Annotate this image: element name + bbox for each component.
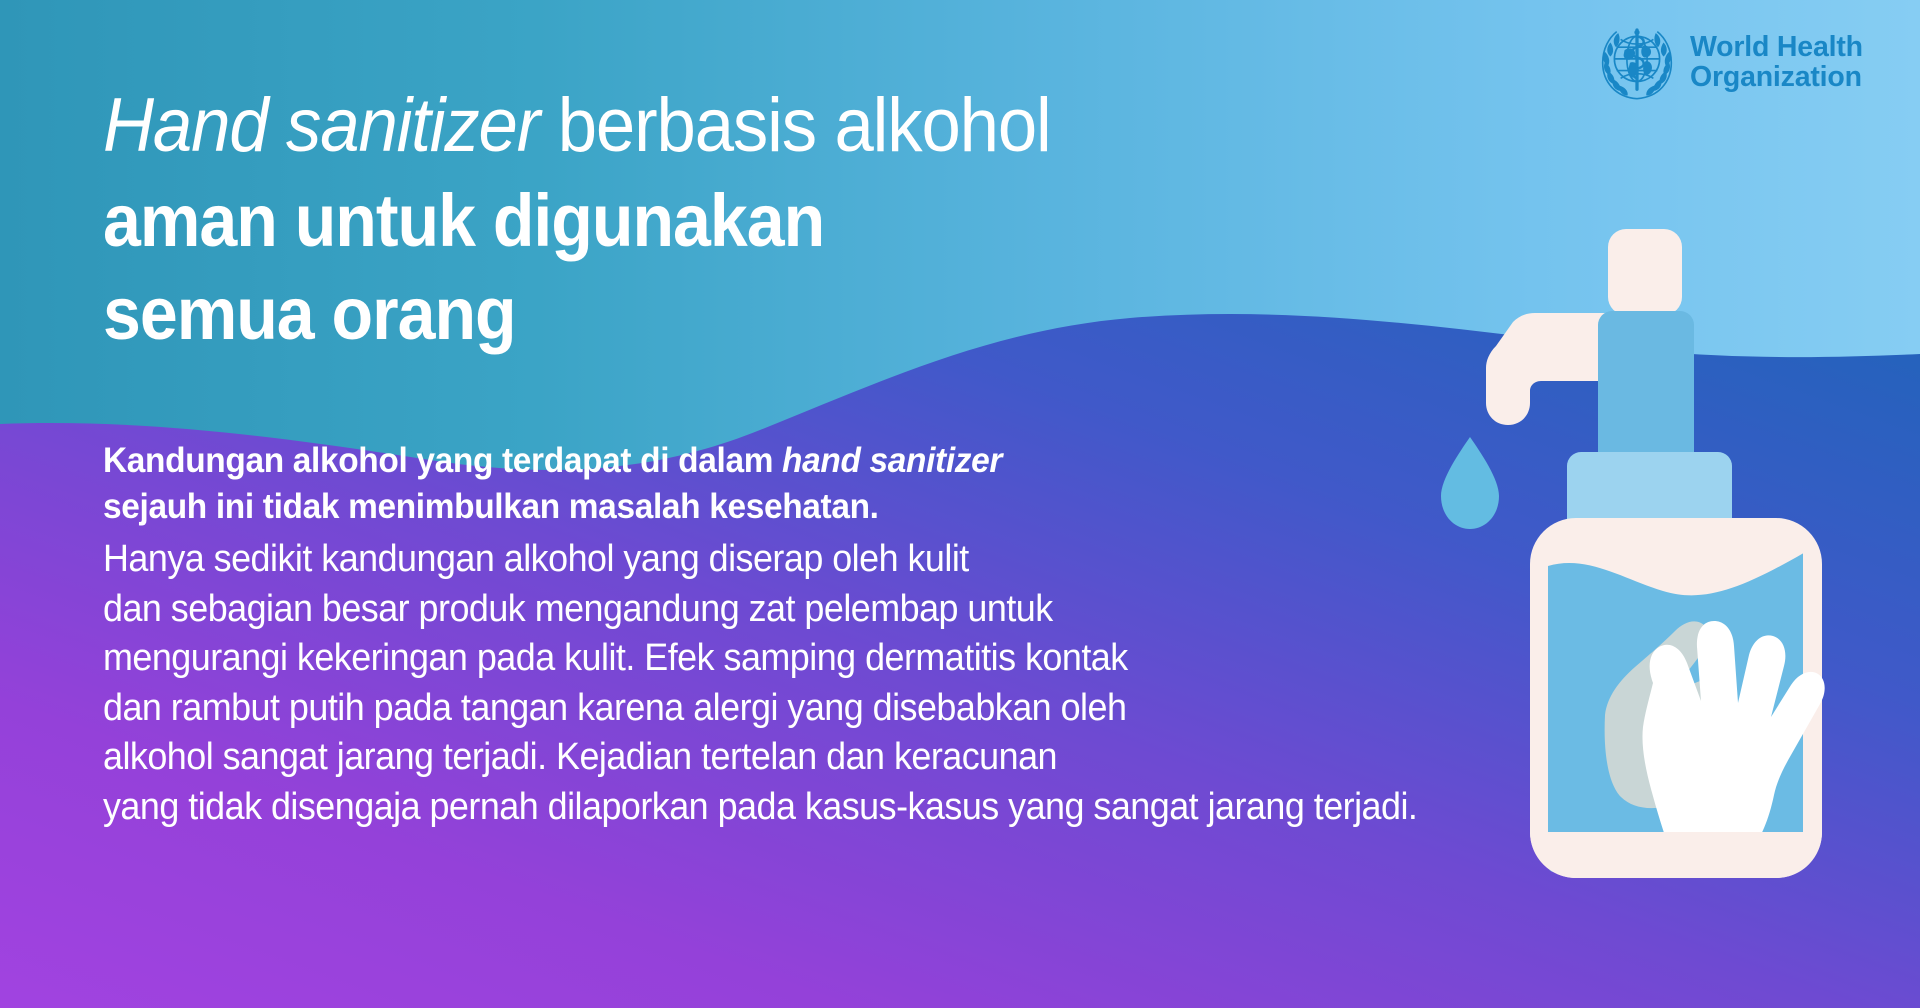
bottle-base [1530,832,1822,878]
headline-line-1-rest: berbasis alkohol [539,83,1050,168]
body-emphasis-hand-sanitizer: hand sanitizer [782,441,1002,480]
who-infographic-poster: World Health Organization Hand sanitizer… [0,0,1920,1008]
who-logo: World Health Organization [1598,22,1863,102]
body-copy: Kandungan alkohol yang terdapat di dalam… [103,438,1893,832]
who-wordmark-line1: World Health [1690,32,1863,62]
who-emblem-icon [1598,22,1676,102]
pump-plunger-cap [1608,229,1682,315]
headline-line-2: aman untuk digunakan [103,184,1040,258]
body-paragraph-line-5: alkohol sangat jarang terjadi. Kejadian … [103,733,1795,783]
body-paragraph-line-2: dan sebagian besar produk mengandung zat… [103,585,1795,635]
body-lead-line-2: sejauh ini tidak menimbulkan masalah kes… [103,484,1812,530]
body-paragraph-line-6: yang tidak disengaja pernah dilaporkan p… [103,783,1795,833]
who-wordmark-line2: Organization [1690,62,1863,92]
headline-emphasis-hand-sanitizer: Hand sanitizer [103,83,539,168]
who-wordmark: World Health Organization [1690,32,1863,93]
body-paragraph-line-3: mengurangi kekeringan pada kulit. Efek s… [103,634,1795,684]
body-lead-line-1-pre: Kandungan alkohol yang terdapat di dalam [103,441,782,480]
headline-line-1: Hand sanitizer berbasis alkohol [103,88,1051,164]
body-paragraph-line-4: dan rambut putih pada tangan karena aler… [103,684,1795,734]
headline-line-3: semua orang [103,277,1040,351]
body-paragraph-line-1: Hanya sedikit kandungan alkohol yang dis… [103,535,1795,585]
page-title: Hand sanitizer berbasis alkohol aman unt… [103,88,1122,351]
body-lead-line-1: Kandungan alkohol yang terdapat di dalam… [103,438,1812,484]
